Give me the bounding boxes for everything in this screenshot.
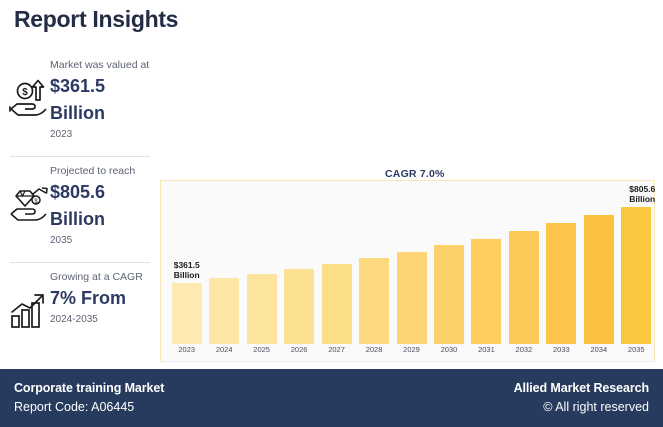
stat-card-projection: $ Projected to reach $805.6 Billion 2035: [0, 156, 160, 262]
svg-text:$: $: [22, 87, 28, 98]
stat-card-cagr: Growing at a CAGR 7% From 2024-2035: [0, 262, 160, 368]
x-tick-2035: 2035: [621, 345, 651, 354]
x-tick-2024: 2024: [209, 345, 239, 354]
bar-2029[interactable]: [397, 186, 427, 344]
rights-text: © All right reserved: [514, 398, 649, 417]
bar-value-label: $361.5: [174, 260, 200, 270]
x-tick-2034: 2034: [584, 345, 614, 354]
bar-value-label: $805.6: [629, 184, 655, 194]
bar-2035[interactable]: $805.6Billion: [621, 186, 651, 344]
hand-holding-diamond-growth-icon: $: [8, 184, 52, 226]
x-tick-2032: 2032: [509, 345, 539, 354]
x-tick-2025: 2025: [247, 345, 277, 354]
bar-rect: [471, 239, 501, 344]
bar-2024[interactable]: [209, 186, 239, 344]
stat-caption: Projected to reach: [50, 164, 160, 178]
x-tick-2026: 2026: [284, 345, 314, 354]
stat-value: $805.6: [50, 180, 160, 205]
stat-caption: Growing at a CAGR: [50, 270, 160, 284]
stat-period: 2024-2035: [50, 314, 160, 325]
hand-holding-dollar-coin-arrow-icon: $: [8, 78, 52, 120]
bar-2028[interactable]: [359, 186, 389, 344]
bar-2031[interactable]: [471, 186, 501, 344]
stat-unit: Billion: [50, 101, 160, 126]
bar-2032[interactable]: [509, 186, 539, 344]
bar-rect: [434, 245, 464, 344]
bar-2027[interactable]: [322, 186, 352, 344]
footer-left: Corporate training Market Report Code: A…: [14, 379, 164, 417]
bar-rect: [359, 258, 389, 344]
bar-rect: [247, 274, 277, 344]
x-tick-2023: 2023: [172, 345, 202, 354]
x-tick-2028: 2028: [359, 345, 389, 354]
sidebar-stats: $ Market was valued at $361.5 Billion 20…: [0, 50, 160, 368]
footer-right: Allied Market Research © All right reser…: [514, 379, 649, 417]
stat-caption: Market was valued at: [50, 58, 160, 72]
bar-chart: $361.5Billion$805.6Billion: [168, 186, 655, 344]
x-tick-2033: 2033: [546, 345, 576, 354]
bar-rect: [322, 264, 352, 344]
bar-2030[interactable]: [434, 186, 464, 344]
bar-2026[interactable]: [284, 186, 314, 344]
bar-rect: [621, 207, 651, 344]
stat-unit: Billion: [50, 207, 160, 232]
x-tick-2030: 2030: [434, 345, 464, 354]
cagr-annotation: CAGR 7.0%: [385, 168, 445, 180]
bar-rect: [209, 278, 239, 344]
market-name: Corporate training Market: [14, 379, 164, 398]
axis-rule: [161, 361, 655, 362]
stat-card-market-value: $ Market was valued at $361.5 Billion 20…: [0, 50, 160, 156]
company-name: Allied Market Research: [514, 379, 649, 398]
bar-rect: [546, 223, 576, 344]
page-title: Report Insights: [14, 6, 178, 33]
bar-rect: [172, 283, 202, 344]
bar-unit-label: Billion: [629, 194, 655, 204]
x-axis-ticks: 2023202420252026202720282029203020312032…: [168, 345, 655, 361]
stat-period: 2023: [50, 129, 160, 140]
bar-2025[interactable]: [247, 186, 277, 344]
bar-2033[interactable]: [546, 186, 576, 344]
bar-rect: [584, 215, 614, 344]
x-tick-2031: 2031: [471, 345, 501, 354]
stat-value: $361.5: [50, 74, 160, 99]
bar-rect: [284, 269, 314, 344]
x-tick-2027: 2027: [322, 345, 352, 354]
x-tick-2029: 2029: [397, 345, 427, 354]
stat-period: 2035: [50, 235, 160, 246]
report-code: Report Code: A06445: [14, 398, 164, 417]
bar-2023[interactable]: $361.5Billion: [172, 186, 202, 344]
bar-chart-growth-arrow-icon: [8, 290, 52, 332]
stat-value: 7% From: [50, 286, 160, 311]
footer-bar: Corporate training Market Report Code: A…: [0, 369, 663, 427]
bar-2034[interactable]: [584, 186, 614, 344]
bar-unit-label: Billion: [174, 270, 200, 280]
bar-rect: [509, 231, 539, 344]
bar-rect: [397, 252, 427, 344]
